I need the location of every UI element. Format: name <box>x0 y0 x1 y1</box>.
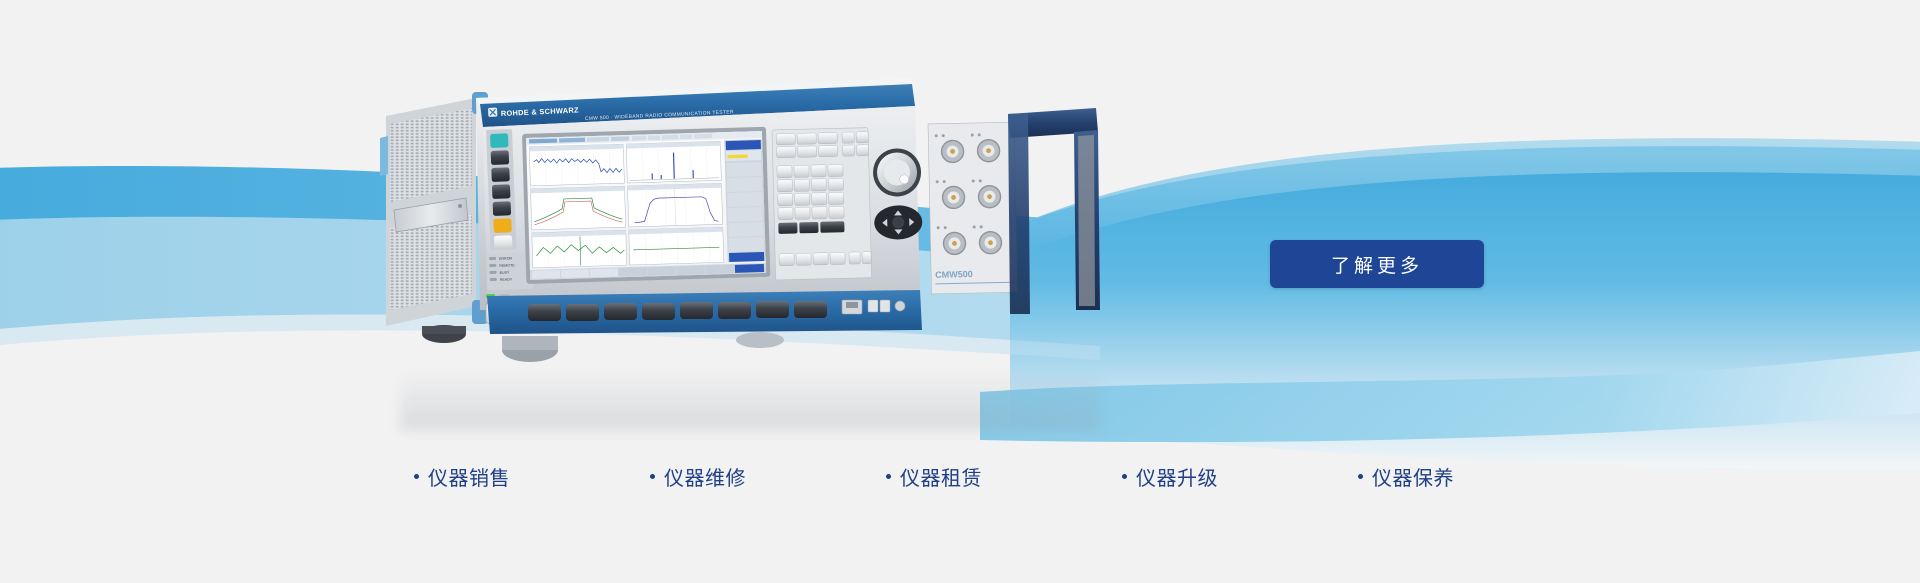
key-shift <box>799 222 818 233</box>
key-reset <box>490 133 509 148</box>
nav-label: 仪器租赁 <box>900 462 982 491</box>
bullet-icon <box>886 474 891 479</box>
svg-text:ERROR: ERROR <box>499 256 513 260</box>
key-print <box>491 150 510 165</box>
nav-item-instrument-upgrade[interactable]: 仪器升级 <box>1122 462 1270 491</box>
bullet-icon <box>414 474 419 479</box>
plot-spectral-flatness-ripple <box>629 227 724 265</box>
plot-adjacent-channel-power <box>626 141 721 183</box>
side-function-keys <box>486 129 517 250</box>
key-help <box>493 218 512 233</box>
key-setup <box>492 184 511 199</box>
key-funct <box>493 201 512 216</box>
nav-item-instrument-rental[interactable]: 仪器租赁 <box>886 462 1034 491</box>
rohde-schwarz-cmw500-instrument: ROHDE & SCHWARZ CMW 500 · WIDEBAND RADIO… <box>380 78 1120 398</box>
nav-item-instrument-sales[interactable]: 仪器销售 <box>414 462 562 491</box>
plot-evm <box>627 183 722 227</box>
learn-more-button[interactable]: 了解更多 <box>1270 240 1484 288</box>
key-sys <box>494 235 513 250</box>
nav-item-instrument-repair[interactable]: 仪器维修 <box>650 462 798 491</box>
model-watermark: CMW500 <box>935 269 973 280</box>
nav-label: 仪器升级 <box>1136 462 1218 491</box>
rf-connector-panel: CMW500 <box>928 122 1018 294</box>
bullet-icon <box>1358 474 1363 479</box>
plot-spectral-flatness <box>532 230 627 268</box>
plot-spectrum-emission-mask <box>531 186 626 230</box>
svg-text:READY: READY <box>500 277 513 281</box>
key-enter <box>820 221 844 233</box>
hero-banner: ROHDE & SCHWARZ CMW 500 · WIDEBAND RADIO… <box>0 0 1920 583</box>
bullet-icon <box>1122 474 1127 479</box>
nav-item-instrument-maintenance[interactable]: 仪器保养 <box>1358 462 1506 491</box>
rohde-schwarz-logo <box>488 108 497 117</box>
nav-label: 仪器销售 <box>428 462 510 491</box>
measurement-display <box>522 127 770 284</box>
plot-power-vs-time <box>529 144 624 186</box>
right-carry-handle <box>1008 108 1100 314</box>
nav-label: 仪器维修 <box>664 462 746 491</box>
instrument-side-vent-panel <box>380 92 488 326</box>
svg-text:BUSY: BUSY <box>500 271 511 275</box>
nav-label: 仪器保养 <box>1372 462 1454 491</box>
service-nav: 仪器销售 仪器维修 仪器租赁 仪器升级 仪器保养 <box>0 462 1920 491</box>
key-backspace <box>778 222 797 233</box>
bullet-icon <box>650 474 655 479</box>
key-save-rcl <box>491 167 510 182</box>
svg-text:REMOTE: REMOTE <box>499 263 515 268</box>
keypad-block <box>772 128 872 280</box>
bottom-softkey-panel <box>487 290 922 334</box>
